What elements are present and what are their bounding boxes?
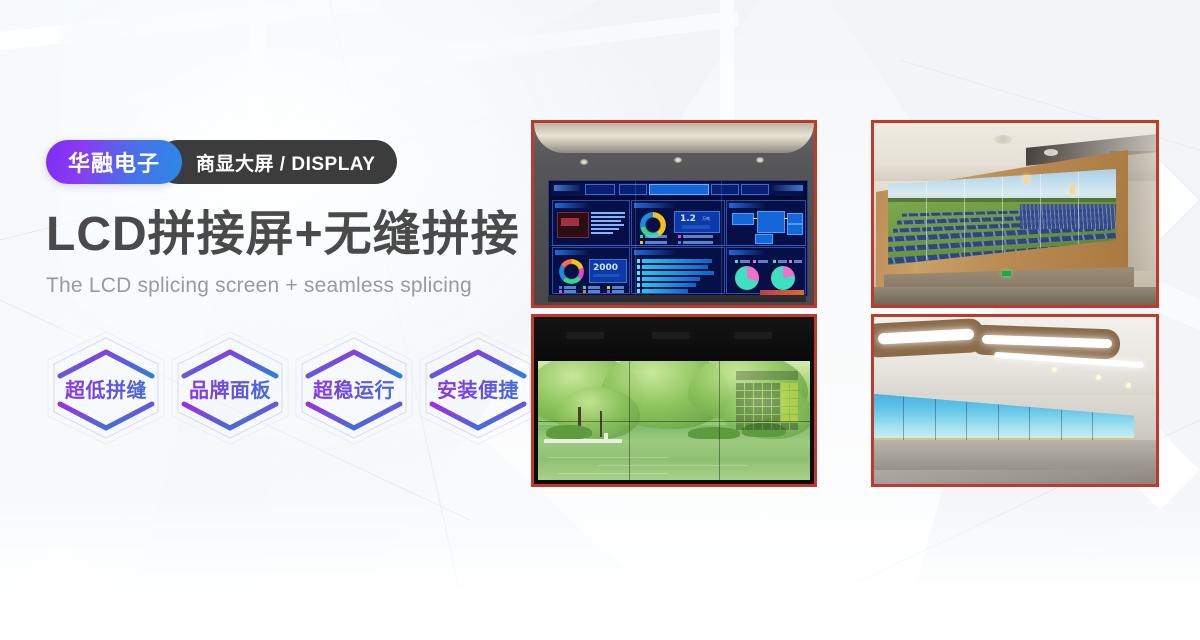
- page-title: LCD拼接屏+无缝拼接: [46, 210, 546, 260]
- background-bottom-fade: [0, 490, 1200, 640]
- dashboard-big-number: 1.2: [680, 214, 696, 224]
- photo-dashboard-video-wall: 1.2 万吨: [531, 120, 817, 308]
- tag-row: 华融电子 商显大屏 / DISPLAY: [46, 140, 546, 184]
- feature-badge-label: 超稳运行: [294, 330, 414, 446]
- dashboard-secondary-number: 2000: [593, 263, 618, 273]
- feature-badge-list: 超低拼缝 品牌面板: [46, 330, 538, 446]
- feature-badge-3: 安装便捷: [418, 330, 538, 446]
- feature-badge-1: 品牌面板: [170, 330, 290, 446]
- brand-badge: 华融电子: [46, 140, 182, 184]
- page-subtitle: The LCD splicing screen + seamless splic…: [46, 274, 546, 298]
- feature-badge-label: 安装便捷: [418, 330, 538, 446]
- dashboard-big-number-unit: 万吨: [702, 216, 710, 222]
- video-wall-screen: 1.2 万吨: [548, 180, 808, 297]
- product-banner: 华融电子 商显大屏 / DISPLAY LCD拼接屏+无缝拼接 The LCD …: [0, 0, 1200, 640]
- video-wall-screen: [538, 361, 810, 480]
- calendar-overlay: [736, 371, 798, 443]
- headline-block: 华融电子 商显大屏 / DISPLAY LCD拼接屏+无缝拼接 The LCD …: [46, 140, 546, 298]
- feature-badge-label: 超低拼缝: [46, 330, 166, 446]
- feature-badge-0: 超低拼缝: [46, 330, 166, 446]
- photo-beach-video-wall: [871, 314, 1159, 487]
- feature-badge-2: 超稳运行: [294, 330, 414, 446]
- photo-solar-farm-video-wall: [871, 120, 1159, 308]
- feature-badge-label: 品牌面板: [170, 330, 290, 446]
- dashboard-pie-charts: [726, 247, 806, 294]
- photo-garden-video-wall: [531, 314, 817, 487]
- dashboard-bar-chart: [631, 247, 725, 294]
- category-badge: 商显大屏 / DISPLAY: [156, 140, 397, 184]
